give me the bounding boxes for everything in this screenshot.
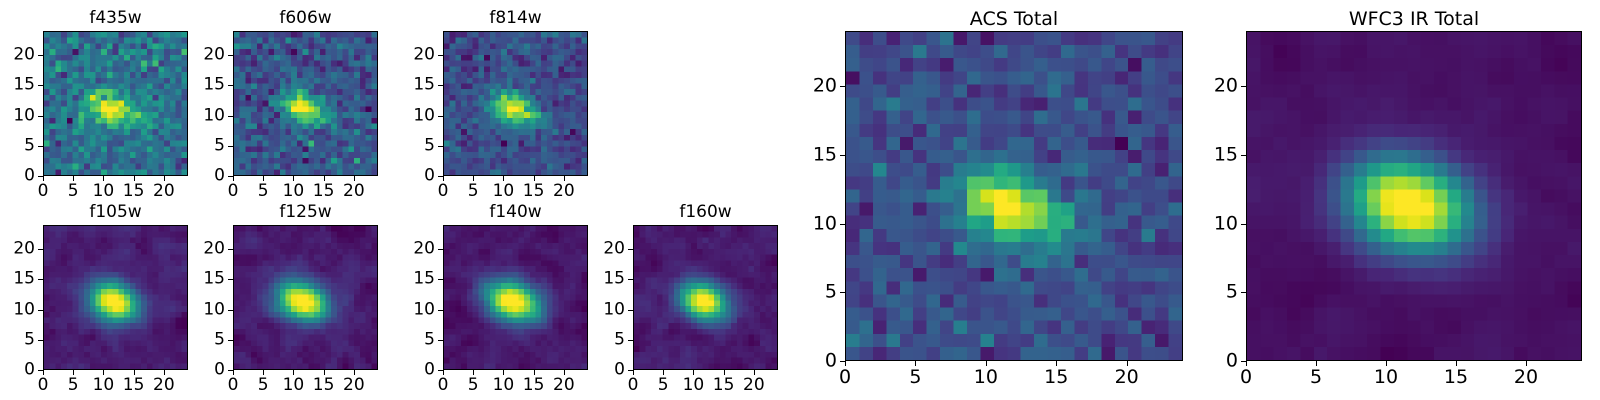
panel-f125w: f125w0055101015152020 — [193, 201, 378, 396]
ytickmark-f814w-5 — [438, 146, 443, 147]
heatmap-canvas-f125w — [234, 226, 377, 369]
ytickmark-f435w-5 — [38, 146, 43, 147]
xtickmark-f125w-10 — [293, 370, 294, 375]
ytick-acs-total-5: 5 — [805, 283, 837, 302]
xtick-f125w-10: 10 — [283, 377, 305, 394]
ytick-f125w-0: 0 — [193, 362, 225, 379]
ytickmark-f140w-20 — [438, 249, 443, 250]
heatmap-canvas-f105w — [44, 226, 187, 369]
xtickmark-f105w-10 — [103, 370, 104, 375]
xtick-wfc3-ir-total-15: 15 — [1444, 368, 1468, 387]
xtickmark-f105w-0 — [43, 370, 44, 375]
xtickmark-f160w-15 — [724, 370, 725, 375]
xtick-f125w-20: 20 — [343, 377, 365, 394]
ytick-f140w-5: 5 — [403, 331, 435, 348]
xtick-acs-total-20: 20 — [1115, 368, 1139, 387]
xtick-f435w-0: 0 — [38, 183, 49, 200]
heatmap-canvas-acs-total — [846, 32, 1182, 360]
heatmap-canvas-f160w — [634, 226, 777, 369]
ytick-f606w-15: 15 — [193, 77, 225, 94]
ytick-f160w-5: 5 — [593, 331, 625, 348]
xtick-wfc3-ir-total-0: 0 — [1240, 368, 1252, 387]
panel-acs-total: ACS Total0055101015152020 — [805, 7, 1183, 387]
ytick-f160w-0: 0 — [593, 362, 625, 379]
ytick-f140w-20: 20 — [403, 241, 435, 258]
ytick-f105w-10: 10 — [3, 301, 35, 318]
ytick-f105w-20: 20 — [3, 241, 35, 258]
ytick-f125w-20: 20 — [193, 241, 225, 258]
xtickmark-f140w-5 — [473, 370, 474, 375]
xtickmark-f814w-20 — [564, 176, 565, 181]
xtick-f160w-15: 15 — [713, 377, 735, 394]
xtick-wfc3-ir-total-20: 20 — [1514, 368, 1538, 387]
xtick-f814w-5: 5 — [468, 183, 479, 200]
xtick-acs-total-15: 15 — [1044, 368, 1068, 387]
xtick-f160w-20: 20 — [743, 377, 765, 394]
xtickmark-f140w-0 — [443, 370, 444, 375]
xtickmark-f140w-20 — [564, 370, 565, 375]
panel-title-f814w: f814w — [443, 10, 588, 27]
ytick-acs-total-15: 15 — [805, 145, 837, 164]
xtick-f435w-15: 15 — [123, 183, 145, 200]
ytickmark-f160w-5 — [628, 340, 633, 341]
ytick-f814w-10: 10 — [403, 107, 435, 124]
panel-title-acs-total: ACS Total — [845, 10, 1183, 29]
heatmap-acs-total — [845, 31, 1183, 361]
xtickmark-f606w-20 — [354, 176, 355, 181]
ytick-f606w-5: 5 — [193, 137, 225, 154]
ytick-f140w-10: 10 — [403, 301, 435, 318]
panel-f105w: f105w0055101015152020 — [3, 201, 188, 396]
ytick-f814w-0: 0 — [403, 168, 435, 185]
xtickmark-f105w-15 — [134, 370, 135, 375]
xtickmark-f160w-5 — [663, 370, 664, 375]
xtickmark-f160w-10 — [693, 370, 694, 375]
panel-f140w: f140w0055101015152020 — [403, 201, 588, 396]
ytick-f435w-10: 10 — [3, 107, 35, 124]
ytick-f606w-0: 0 — [193, 168, 225, 185]
ytick-f105w-15: 15 — [3, 271, 35, 288]
heatmap-canvas-f435w — [44, 32, 187, 175]
ytickmark-wfc3-ir-total-10 — [1241, 224, 1246, 225]
panel-wfc3-ir-total: WFC3 IR Total0055101015152020 — [1206, 7, 1582, 387]
xtickmark-acs-total-15 — [1056, 361, 1057, 366]
ytickmark-acs-total-20 — [840, 86, 845, 87]
panel-title-f606w: f606w — [233, 10, 378, 27]
xtick-f160w-0: 0 — [628, 377, 639, 394]
panel-title-wfc3-ir-total: WFC3 IR Total — [1246, 10, 1582, 29]
ytickmark-f160w-10 — [628, 310, 633, 311]
ytick-f435w-20: 20 — [3, 47, 35, 64]
ytickmark-f105w-15 — [38, 279, 43, 280]
xtick-f160w-5: 5 — [658, 377, 669, 394]
xtick-f606w-15: 15 — [313, 183, 335, 200]
ytickmark-f105w-10 — [38, 310, 43, 311]
ytick-f160w-15: 15 — [593, 271, 625, 288]
ytick-wfc3-ir-total-5: 5 — [1206, 283, 1238, 302]
panel-title-f160w: f160w — [633, 204, 778, 221]
xtick-f606w-10: 10 — [283, 183, 305, 200]
ytickmark-acs-total-10 — [840, 224, 845, 225]
xtick-f606w-5: 5 — [258, 183, 269, 200]
heatmap-f606w — [233, 31, 378, 176]
panel-f435w: f435w0055101015152020 — [3, 7, 188, 202]
xtickmark-f814w-10 — [503, 176, 504, 181]
ytickmark-f435w-10 — [38, 116, 43, 117]
ytick-f125w-5: 5 — [193, 331, 225, 348]
xtickmark-f606w-15 — [324, 176, 325, 181]
ytickmark-f606w-20 — [228, 55, 233, 56]
ytickmark-f160w-15 — [628, 279, 633, 280]
xtickmark-wfc3-ir-total-5 — [1316, 361, 1317, 366]
xtickmark-f105w-20 — [164, 370, 165, 375]
ytickmark-f140w-5 — [438, 340, 443, 341]
panel-title-f105w: f105w — [43, 204, 188, 221]
xtick-f606w-20: 20 — [343, 183, 365, 200]
xtickmark-acs-total-20 — [1127, 361, 1128, 366]
xtick-f140w-5: 5 — [468, 377, 479, 394]
xtick-acs-total-0: 0 — [839, 368, 851, 387]
xtick-f140w-15: 15 — [523, 377, 545, 394]
ytickmark-acs-total-5 — [840, 292, 845, 293]
heatmap-canvas-f140w — [444, 226, 587, 369]
xtickmark-f125w-20 — [354, 370, 355, 375]
xtick-f105w-15: 15 — [123, 377, 145, 394]
ytick-f606w-10: 10 — [193, 107, 225, 124]
xtick-f140w-20: 20 — [553, 377, 575, 394]
ytickmark-f606w-10 — [228, 116, 233, 117]
panel-title-f125w: f125w — [233, 204, 378, 221]
heatmap-canvas-f606w — [234, 32, 377, 175]
xtickmark-f606w-5 — [263, 176, 264, 181]
ytick-f814w-5: 5 — [403, 137, 435, 154]
xtickmark-f125w-5 — [263, 370, 264, 375]
ytickmark-f435w-20 — [38, 55, 43, 56]
xtickmark-f105w-5 — [73, 370, 74, 375]
xtickmark-f435w-0 — [43, 176, 44, 181]
xtickmark-f160w-20 — [754, 370, 755, 375]
xtickmark-f606w-0 — [233, 176, 234, 181]
ytickmark-f814w-15 — [438, 85, 443, 86]
ytick-f105w-0: 0 — [3, 362, 35, 379]
ytickmark-f125w-10 — [228, 310, 233, 311]
ytick-f435w-15: 15 — [3, 77, 35, 94]
xtick-f606w-0: 0 — [228, 183, 239, 200]
xtick-f814w-0: 0 — [438, 183, 449, 200]
ytick-f160w-10: 10 — [593, 301, 625, 318]
xtick-f125w-5: 5 — [258, 377, 269, 394]
heatmap-f125w — [233, 225, 378, 370]
ytick-f140w-15: 15 — [403, 271, 435, 288]
xtickmark-f814w-5 — [473, 176, 474, 181]
panel-f606w: f606w0055101015152020 — [193, 7, 378, 202]
xtickmark-f125w-0 — [233, 370, 234, 375]
ytick-acs-total-0: 0 — [805, 352, 837, 371]
ytick-f814w-20: 20 — [403, 47, 435, 64]
ytickmark-f105w-20 — [38, 249, 43, 250]
ytickmark-f606w-5 — [228, 146, 233, 147]
ytick-f814w-15: 15 — [403, 77, 435, 94]
ytickmark-f814w-20 — [438, 55, 443, 56]
ytick-wfc3-ir-total-0: 0 — [1206, 352, 1238, 371]
xtick-f125w-0: 0 — [228, 377, 239, 394]
ytickmark-f140w-15 — [438, 279, 443, 280]
ytickmark-f435w-15 — [38, 85, 43, 86]
xtickmark-f435w-20 — [164, 176, 165, 181]
ytickmark-wfc3-ir-total-15 — [1241, 155, 1246, 156]
xtickmark-acs-total-0 — [845, 361, 846, 366]
xtick-acs-total-10: 10 — [974, 368, 998, 387]
ytickmark-f125w-5 — [228, 340, 233, 341]
xtick-f814w-10: 10 — [493, 183, 515, 200]
xtick-f125w-15: 15 — [313, 377, 335, 394]
xtick-acs-total-5: 5 — [909, 368, 921, 387]
panel-title-f140w: f140w — [443, 204, 588, 221]
xtick-f160w-10: 10 — [683, 377, 705, 394]
xtickmark-f140w-10 — [503, 370, 504, 375]
ytick-wfc3-ir-total-10: 10 — [1206, 214, 1238, 233]
ytickmark-f814w-10 — [438, 116, 443, 117]
ytick-f435w-5: 5 — [3, 137, 35, 154]
ytickmark-f140w-10 — [438, 310, 443, 311]
panel-title-f435w: f435w — [43, 10, 188, 27]
ytick-f606w-20: 20 — [193, 47, 225, 64]
heatmap-f435w — [43, 31, 188, 176]
ytick-wfc3-ir-total-15: 15 — [1206, 145, 1238, 164]
ytickmark-f160w-20 — [628, 249, 633, 250]
xtick-f814w-15: 15 — [523, 183, 545, 200]
panel-f814w: f814w0055101015152020 — [403, 7, 588, 202]
xtick-f140w-0: 0 — [438, 377, 449, 394]
xtickmark-f435w-10 — [103, 176, 104, 181]
ytickmark-acs-total-15 — [840, 155, 845, 156]
heatmap-f105w — [43, 225, 188, 370]
xtick-f435w-10: 10 — [93, 183, 115, 200]
xtick-wfc3-ir-total-5: 5 — [1310, 368, 1322, 387]
ytick-f125w-15: 15 — [193, 271, 225, 288]
xtick-f435w-5: 5 — [68, 183, 79, 200]
heatmap-canvas-f814w — [444, 32, 587, 175]
xtickmark-wfc3-ir-total-15 — [1456, 361, 1457, 366]
xtickmark-f606w-10 — [293, 176, 294, 181]
ytick-f160w-20: 20 — [593, 241, 625, 258]
xtick-f105w-5: 5 — [68, 377, 79, 394]
xtickmark-wfc3-ir-total-0 — [1246, 361, 1247, 366]
heatmap-f160w — [633, 225, 778, 370]
ytickmark-wfc3-ir-total-5 — [1241, 292, 1246, 293]
xtick-f105w-10: 10 — [93, 377, 115, 394]
xtickmark-f435w-5 — [73, 176, 74, 181]
xtickmark-acs-total-10 — [986, 361, 987, 366]
ytickmark-f105w-5 — [38, 340, 43, 341]
panel-f160w: f160w0055101015152020 — [593, 201, 778, 396]
ytick-wfc3-ir-total-20: 20 — [1206, 77, 1238, 96]
ytick-f125w-10: 10 — [193, 301, 225, 318]
ytick-f105w-5: 5 — [3, 331, 35, 348]
heatmap-canvas-wfc3-ir-total — [1247, 32, 1581, 360]
xtick-f814w-20: 20 — [553, 183, 575, 200]
xtick-wfc3-ir-total-10: 10 — [1374, 368, 1398, 387]
ytick-acs-total-10: 10 — [805, 214, 837, 233]
xtickmark-wfc3-ir-total-20 — [1526, 361, 1527, 366]
xtickmark-f814w-15 — [534, 176, 535, 181]
ytickmark-f606w-15 — [228, 85, 233, 86]
xtickmark-f160w-0 — [633, 370, 634, 375]
heatmap-f140w — [443, 225, 588, 370]
xtickmark-f435w-15 — [134, 176, 135, 181]
ytickmark-wfc3-ir-total-20 — [1241, 86, 1246, 87]
xtickmark-f140w-15 — [534, 370, 535, 375]
xtickmark-f814w-0 — [443, 176, 444, 181]
ytick-f435w-0: 0 — [3, 168, 35, 185]
heatmap-f814w — [443, 31, 588, 176]
ytickmark-f125w-15 — [228, 279, 233, 280]
heatmap-wfc3-ir-total — [1246, 31, 1582, 361]
xtick-f435w-20: 20 — [153, 183, 175, 200]
xtickmark-acs-total-5 — [915, 361, 916, 366]
xtick-f105w-20: 20 — [153, 377, 175, 394]
ytick-f140w-0: 0 — [403, 362, 435, 379]
xtickmark-wfc3-ir-total-10 — [1386, 361, 1387, 366]
xtickmark-f125w-15 — [324, 370, 325, 375]
xtick-f140w-10: 10 — [493, 377, 515, 394]
ytick-acs-total-20: 20 — [805, 77, 837, 96]
xtick-f105w-0: 0 — [38, 377, 49, 394]
ytickmark-f125w-20 — [228, 249, 233, 250]
